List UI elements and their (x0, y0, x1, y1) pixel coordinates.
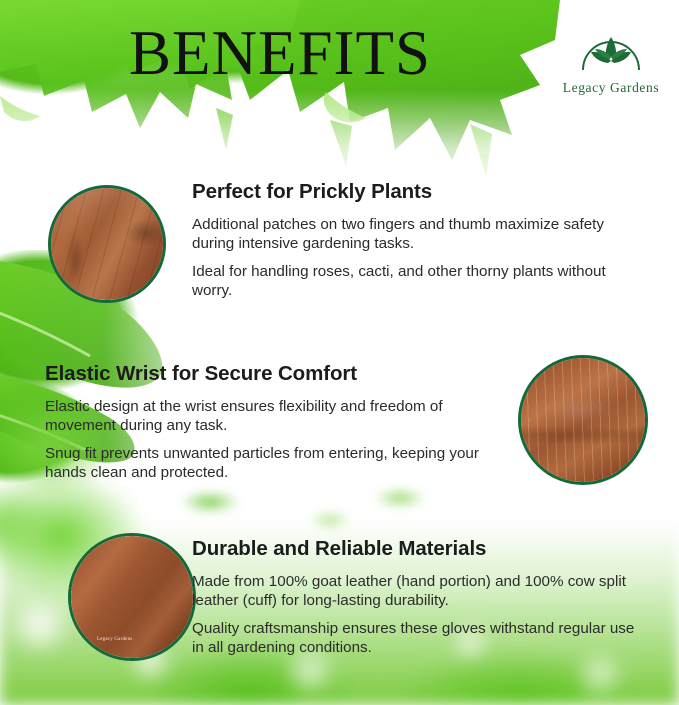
feature-paragraph: Made from 100% goat leather (hand portio… (192, 572, 642, 610)
brand-logo: Legacy Gardens (549, 28, 673, 96)
glove-palm-image-fill (51, 188, 163, 300)
feature-heading: Elastic Wrist for Secure Comfort (45, 362, 505, 386)
embossed-logo-label: Legacy Gardens (97, 637, 132, 642)
feature-paragraph: Quality craftsmanship ensures these glov… (192, 619, 642, 657)
glove-wrist-image-fill (521, 358, 645, 482)
feature-heading: Durable and Reliable Materials (192, 537, 642, 561)
feature-paragraph: Snug fit prevents unwanted particles fro… (45, 444, 505, 482)
glove-elastic-wrist-closeup-photo (518, 355, 648, 485)
leaf-arch-logo-icon (549, 28, 673, 77)
brand-name-label: Legacy Gardens (549, 80, 673, 96)
feature-paragraph: Elastic design at the wrist ensures flex… (45, 397, 505, 435)
feature-paragraph: Additional patches on two fingers and th… (192, 215, 642, 253)
page-header: BENEFITS Legacy Gardens (0, 0, 679, 120)
feature-text-prickly-plants: Perfect for Prickly Plants Additional pa… (192, 180, 642, 300)
feature-paragraph: Ideal for handling roses, cacti, and oth… (192, 262, 642, 300)
page-title: BENEFITS (0, 22, 560, 85)
feature-heading: Perfect for Prickly Plants (192, 180, 642, 204)
benefits-infographic-page: BENEFITS Legacy Gardens Perfect for Pric… (0, 0, 679, 705)
pair-of-long-cuff-gloves-photo: Legacy Gardens (68, 533, 196, 661)
glove-palm-closeup-photo (48, 185, 166, 303)
feature-text-elastic-wrist: Elastic Wrist for Secure Comfort Elastic… (45, 362, 505, 482)
feature-text-durable-materials: Durable and Reliable Materials Made from… (192, 537, 642, 657)
